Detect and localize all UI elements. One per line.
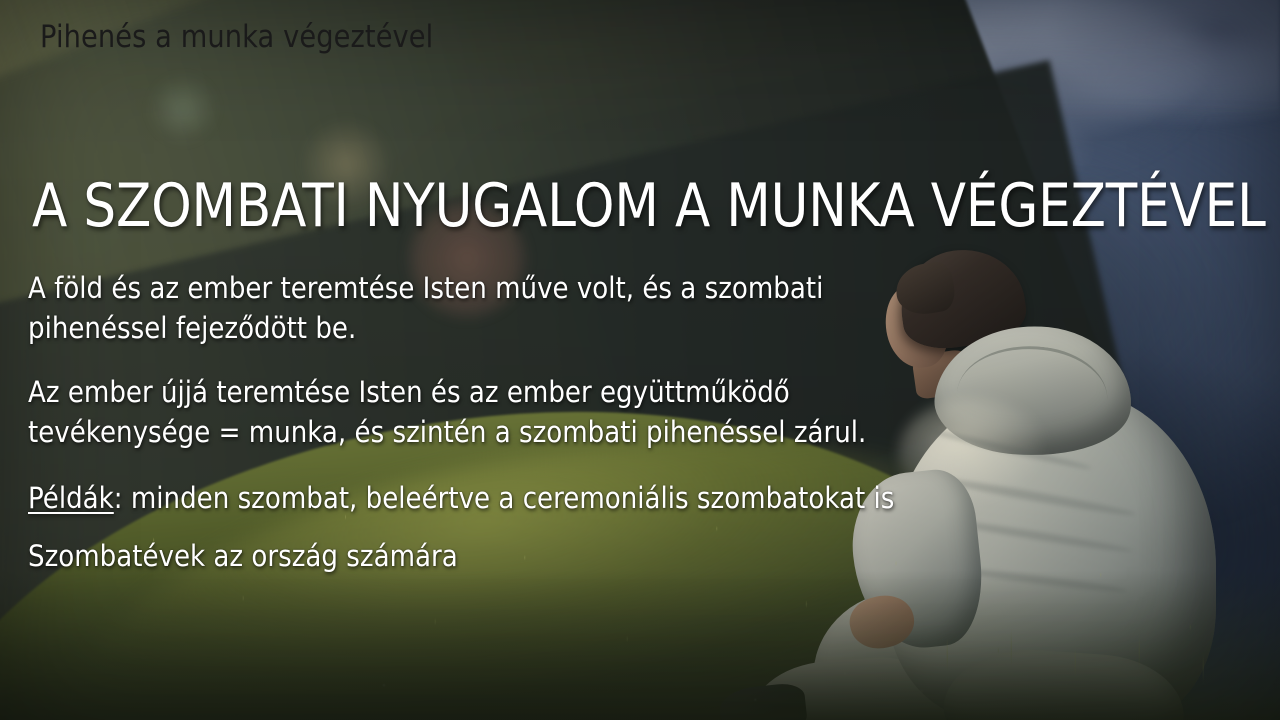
body-paragraph-4: Szombatévek az ország számára <box>28 534 946 578</box>
body-paragraph-1: A föld és az ember teremtése Isten műve … <box>28 268 946 348</box>
body-paragraph-2: Az ember újjá teremtése Isten és az embe… <box>28 372 946 452</box>
examples-label: Példák <box>28 481 114 515</box>
slide-kicker: Pihenés a munka végeztével <box>40 20 433 56</box>
examples-text: : minden szombat, beleértve a ceremoniál… <box>114 481 895 515</box>
slide-body: A föld és az ember teremtése Isten műve … <box>28 268 1048 592</box>
presentation-slide: Pihenés a munka végeztével A SZOMBATI NY… <box>0 0 1280 720</box>
slide-content: Pihenés a munka végeztével A SZOMBATI NY… <box>0 0 1280 720</box>
body-paragraph-3: Példák: minden szombat, beleértve a cere… <box>28 476 946 520</box>
slide-title: A SZOMBATI NYUGALOM A MUNKA VÉGEZTÉVEL <box>32 174 1090 239</box>
